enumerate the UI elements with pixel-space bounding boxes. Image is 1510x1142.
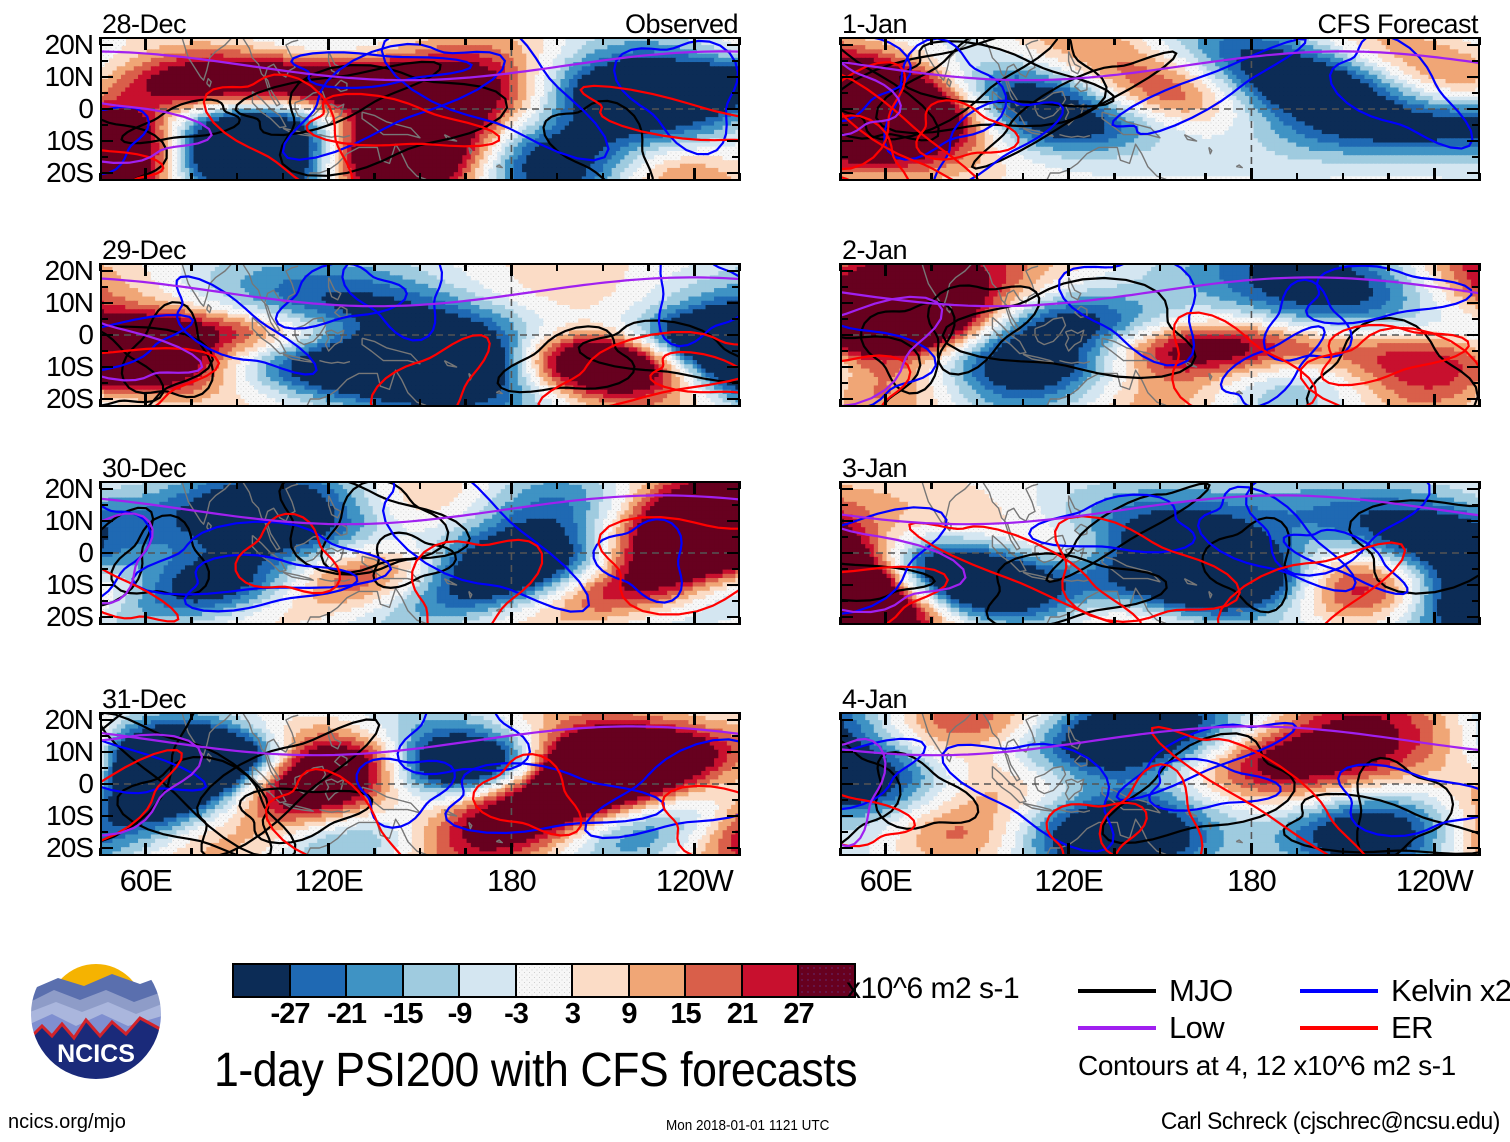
x-tick [1204, 617, 1207, 625]
x-tick [976, 173, 979, 181]
x-tick [693, 394, 696, 407]
panel-frame [840, 712, 1480, 856]
y-axis-label: 10S [46, 353, 93, 381]
x-tick [930, 617, 933, 625]
legend-entry-er: ER [1300, 1012, 1510, 1043]
y-tick [1467, 488, 1480, 491]
y-tick [1472, 382, 1480, 385]
colorbar-units-label: x10^6 m2 s-1 [846, 974, 1019, 1004]
y-tick [1467, 44, 1480, 47]
x-tick [930, 399, 933, 407]
y-tick [727, 44, 740, 47]
y-tick [1472, 92, 1480, 95]
x-tick [1296, 37, 1299, 45]
map-panel-28-dec: 28-DecObserved 20N10N010S20S [100, 37, 740, 181]
x-tick [556, 37, 559, 45]
y-axis-label: 10N [45, 63, 93, 91]
y-tick [840, 584, 853, 587]
x-tick [1204, 712, 1207, 720]
y-tick [100, 616, 113, 619]
x-tick [1296, 617, 1299, 625]
x-tick [976, 37, 979, 45]
x-tick [1022, 617, 1025, 625]
x-tick [144, 394, 147, 407]
x-tick [1250, 481, 1253, 494]
x-axis-label: 180 [487, 865, 536, 896]
x-tick [282, 263, 285, 271]
x-tick [282, 37, 285, 45]
colorbar-swatch [460, 965, 517, 996]
x-tick [1159, 848, 1162, 856]
colorbar-tick-label: -9 [448, 1000, 472, 1029]
y-tick [1467, 520, 1480, 523]
x-tick [1296, 399, 1299, 407]
y-tick [1467, 172, 1480, 175]
y-tick [732, 600, 740, 603]
x-tick [693, 481, 696, 494]
x-tick [236, 848, 239, 856]
map-panel-30-dec: 30-Dec 20N10N010S20S [100, 481, 740, 625]
x-tick [1067, 481, 1070, 494]
x-tick [1250, 612, 1253, 625]
y-tick [1467, 719, 1480, 722]
x-tick [464, 481, 467, 489]
legend-entry-kelvin: Kelvin x2 [1300, 975, 1510, 1006]
y-axis-label: 10S [46, 571, 93, 599]
x-tick [282, 481, 285, 489]
x-tick [976, 399, 979, 407]
y-tick [732, 799, 740, 802]
colorbar-tick-label: -3 [504, 1000, 528, 1029]
x-tick [1159, 263, 1162, 271]
y-tick [727, 751, 740, 754]
colorbar-swatch [291, 965, 348, 996]
x-tick [1113, 848, 1116, 856]
y-tick [1472, 156, 1480, 159]
x-tick [373, 173, 376, 181]
x-tick [464, 617, 467, 625]
colorbar: -27-21-15-9-339152127 [232, 963, 856, 998]
x-tick [1296, 173, 1299, 181]
legend: MJO Kelvin x2 Low ER [1078, 972, 1510, 1046]
y-tick [100, 286, 108, 289]
panel-date-label: 2-Jan [842, 235, 907, 265]
x-tick [236, 173, 239, 181]
panel-frame [100, 263, 740, 407]
y-tick [727, 172, 740, 175]
y-tick [100, 751, 113, 754]
y-tick [727, 334, 740, 337]
x-tick [556, 263, 559, 271]
y-axis-label: 10N [45, 289, 93, 317]
x-tick [1022, 37, 1025, 45]
x-tick [1342, 173, 1345, 181]
y-tick [727, 783, 740, 786]
y-tick [1467, 751, 1480, 754]
y-tick [840, 719, 853, 722]
panel-date-label: 30-Dec [102, 453, 186, 483]
y-tick [732, 350, 740, 353]
y-tick [100, 783, 113, 786]
x-tick [1342, 263, 1345, 271]
x-tick [693, 168, 696, 181]
x-tick [602, 617, 605, 625]
y-tick [100, 831, 108, 834]
y-tick [1472, 504, 1480, 507]
x-tick [1387, 617, 1390, 625]
x-tick [510, 168, 513, 181]
legend-row: MJO Kelvin x2 [1078, 972, 1510, 1009]
y-tick [100, 60, 108, 63]
colorbar-swatch [686, 965, 743, 996]
x-tick [884, 843, 887, 856]
y-tick [100, 318, 108, 321]
x-tick [930, 848, 933, 856]
colorbar-swatches [232, 963, 856, 998]
y-tick [100, 76, 113, 79]
x-tick [693, 37, 696, 50]
y-tick [727, 108, 740, 111]
x-tick [1159, 173, 1162, 181]
x-tick [1022, 848, 1025, 856]
x-tick [510, 712, 513, 725]
x-tick [1067, 394, 1070, 407]
x-tick [1204, 399, 1207, 407]
y-tick [840, 60, 848, 63]
x-tick [976, 617, 979, 625]
y-tick [727, 488, 740, 491]
y-tick [732, 318, 740, 321]
x-tick [1342, 399, 1345, 407]
y-tick [840, 108, 853, 111]
x-tick [1342, 481, 1345, 489]
x-tick [884, 712, 887, 725]
y-tick [1467, 76, 1480, 79]
x-tick [419, 617, 422, 625]
y-tick [1467, 616, 1480, 619]
x-axis-label: 180 [1227, 865, 1276, 896]
y-tick [840, 799, 848, 802]
y-tick [840, 536, 848, 539]
x-tick [1433, 481, 1436, 494]
y-tick [840, 488, 853, 491]
x-tick [144, 712, 147, 725]
column-header-left: Observed [625, 9, 738, 39]
x-tick [236, 37, 239, 45]
colorbar-tick-label: -27 [271, 1000, 310, 1029]
colorbar-swatch [404, 965, 461, 996]
x-tick [884, 263, 887, 276]
y-tick [100, 350, 108, 353]
panel-date-label: 4-Jan [842, 684, 907, 714]
y-tick [727, 719, 740, 722]
x-tick [1296, 848, 1299, 856]
x-tick [327, 712, 330, 725]
x-tick [464, 37, 467, 45]
x-tick [1113, 37, 1116, 45]
x-tick [602, 848, 605, 856]
map-panel-1-jan: 1-JanCFS Forecast [840, 37, 1480, 181]
y-tick [100, 302, 113, 305]
y-tick [100, 488, 113, 491]
x-tick [510, 263, 513, 276]
y-tick [100, 504, 108, 507]
x-tick [1250, 263, 1253, 276]
colorbar-tick-label: 15 [670, 1000, 700, 1029]
y-tick [840, 382, 848, 385]
x-tick [647, 617, 650, 625]
x-tick [510, 37, 513, 50]
y-axis-label: 20S [46, 159, 93, 187]
y-tick [732, 536, 740, 539]
panel-frame [100, 481, 740, 625]
panel-date-label: 29-Dec [102, 235, 186, 265]
x-tick [976, 848, 979, 856]
x-tick [1113, 481, 1116, 489]
x-tick [556, 399, 559, 407]
y-tick [100, 140, 113, 143]
x-tick [647, 399, 650, 407]
y-tick [1472, 536, 1480, 539]
x-tick [884, 481, 887, 494]
y-tick [1467, 270, 1480, 273]
x-tick [1204, 263, 1207, 271]
x-tick [419, 848, 422, 856]
y-tick [1472, 831, 1480, 834]
x-tick [930, 37, 933, 45]
x-tick [1433, 612, 1436, 625]
y-tick [727, 366, 740, 369]
x-tick [373, 399, 376, 407]
x-tick [647, 263, 650, 271]
x-tick [1113, 712, 1116, 720]
legend-line-icon [1078, 989, 1156, 993]
x-tick [464, 263, 467, 271]
x-tick [373, 37, 376, 45]
x-tick [1159, 617, 1162, 625]
x-tick [1433, 263, 1436, 276]
y-tick [840, 366, 853, 369]
x-tick [190, 848, 193, 856]
y-tick [732, 735, 740, 738]
colorbar-tick-label: 3 [565, 1000, 580, 1029]
x-tick [190, 173, 193, 181]
colorbar-tick-label: 9 [621, 1000, 636, 1029]
ncics-logo: NCICS [28, 946, 164, 1082]
colorbar-tick-label: -15 [384, 1000, 423, 1029]
x-tick [190, 712, 193, 720]
x-tick [602, 481, 605, 489]
x-tick [373, 617, 376, 625]
y-tick [840, 92, 848, 95]
x-tick [190, 37, 193, 45]
colorbar-swatch [234, 965, 291, 996]
colorbar-tick-label: 21 [727, 1000, 757, 1029]
y-tick [1472, 286, 1480, 289]
x-tick [419, 712, 422, 720]
y-tick [840, 552, 853, 555]
x-tick [190, 263, 193, 271]
x-tick [1387, 173, 1390, 181]
x-tick [693, 712, 696, 725]
x-tick [1022, 481, 1025, 489]
y-tick [732, 60, 740, 63]
x-tick [144, 481, 147, 494]
x-tick [1113, 399, 1116, 407]
legend-entry-low: Low [1078, 1012, 1300, 1043]
y-tick [840, 140, 853, 143]
y-tick [727, 270, 740, 273]
x-axis-label: 120W [1396, 865, 1473, 896]
page-title: 1-day PSI200 with CFS forecasts [214, 1046, 857, 1096]
y-tick [732, 156, 740, 159]
x-tick [884, 394, 887, 407]
x-tick [647, 481, 650, 489]
x-tick [1387, 481, 1390, 489]
y-tick [840, 270, 853, 273]
x-tick [930, 712, 933, 720]
x-tick [602, 263, 605, 271]
y-tick [100, 815, 113, 818]
legend-row: Low ER [1078, 1009, 1510, 1046]
y-tick [100, 719, 113, 722]
y-tick [732, 504, 740, 507]
panel-frame [840, 37, 1480, 181]
x-tick [419, 399, 422, 407]
y-tick [1467, 398, 1480, 401]
legend-line-icon [1300, 989, 1378, 993]
x-tick [1433, 168, 1436, 181]
y-tick [1472, 735, 1480, 738]
x-tick [647, 37, 650, 45]
y-tick [1472, 568, 1480, 571]
x-tick [1113, 617, 1116, 625]
y-axis-label: 20N [45, 475, 93, 503]
panel-frame [840, 263, 1480, 407]
y-tick [1472, 799, 1480, 802]
x-tick [647, 712, 650, 720]
x-tick [464, 848, 467, 856]
x-tick [236, 263, 239, 271]
x-tick [373, 263, 376, 271]
y-tick [100, 398, 113, 401]
legend-label: Kelvin x2 [1391, 975, 1510, 1006]
y-axis-label: 10S [46, 127, 93, 155]
x-tick [884, 37, 887, 50]
x-tick [1204, 173, 1207, 181]
x-tick [1159, 712, 1162, 720]
map-panel-3-jan: 3-Jan [840, 481, 1480, 625]
x-tick [693, 843, 696, 856]
y-tick [840, 616, 853, 619]
x-tick [1022, 712, 1025, 720]
x-tick [1067, 263, 1070, 276]
x-tick [1250, 712, 1253, 725]
y-tick [732, 92, 740, 95]
footer-author: Carl Schreck (cjschrec@ncsu.edu) [1161, 1110, 1500, 1134]
x-tick [1250, 394, 1253, 407]
y-axis-label: 0 [78, 95, 93, 123]
panel-date-label: 31-Dec [102, 684, 186, 714]
x-tick [419, 173, 422, 181]
x-tick [602, 37, 605, 45]
x-tick [976, 712, 979, 720]
y-tick [1472, 60, 1480, 63]
y-tick [727, 302, 740, 305]
x-tick [556, 617, 559, 625]
x-tick [190, 617, 193, 625]
y-tick [727, 815, 740, 818]
y-tick [840, 318, 848, 321]
x-tick [1433, 37, 1436, 50]
x-tick [1067, 612, 1070, 625]
y-tick [732, 382, 740, 385]
x-tick [373, 712, 376, 720]
y-tick [100, 44, 113, 47]
x-tick [1296, 712, 1299, 720]
y-tick [100, 334, 113, 337]
x-tick [1250, 37, 1253, 50]
x-tick [1204, 481, 1207, 489]
x-tick [327, 481, 330, 494]
x-tick [282, 399, 285, 407]
panel-frame [100, 37, 740, 181]
x-tick [144, 263, 147, 276]
x-tick [1342, 712, 1345, 720]
y-tick [840, 286, 848, 289]
y-tick [727, 140, 740, 143]
y-tick [100, 92, 108, 95]
y-tick [840, 334, 853, 337]
y-axis-label: 0 [78, 770, 93, 798]
x-tick [327, 843, 330, 856]
x-tick [930, 173, 933, 181]
colorbar-tick-label: 27 [783, 1000, 813, 1029]
x-tick [373, 848, 376, 856]
x-tick [419, 263, 422, 271]
x-tick [236, 481, 239, 489]
x-tick [976, 263, 979, 271]
x-tick [1159, 481, 1162, 489]
y-tick [840, 156, 848, 159]
x-tick [282, 173, 285, 181]
x-tick [1387, 37, 1390, 45]
y-tick [727, 520, 740, 523]
y-tick [732, 124, 740, 127]
x-tick [419, 481, 422, 489]
y-tick [840, 124, 848, 127]
x-tick [1433, 394, 1436, 407]
legend-label: MJO [1169, 975, 1233, 1006]
x-tick [327, 168, 330, 181]
x-tick [556, 481, 559, 489]
y-tick [732, 831, 740, 834]
x-tick [1387, 712, 1390, 720]
y-axis-label: 20N [45, 706, 93, 734]
footer-timestamp: Mon 2018-01-01 1121 UTC [666, 1118, 829, 1133]
x-tick [510, 843, 513, 856]
x-tick [1067, 843, 1070, 856]
y-tick [840, 783, 853, 786]
y-tick [1467, 366, 1480, 369]
y-tick [732, 286, 740, 289]
footer-url[interactable]: ncics.org/mjo [8, 1112, 126, 1132]
legend-line-icon [1300, 1026, 1378, 1030]
y-tick [100, 382, 108, 385]
colorbar-swatch [517, 965, 574, 996]
y-tick [1472, 767, 1480, 770]
y-tick [1467, 783, 1480, 786]
